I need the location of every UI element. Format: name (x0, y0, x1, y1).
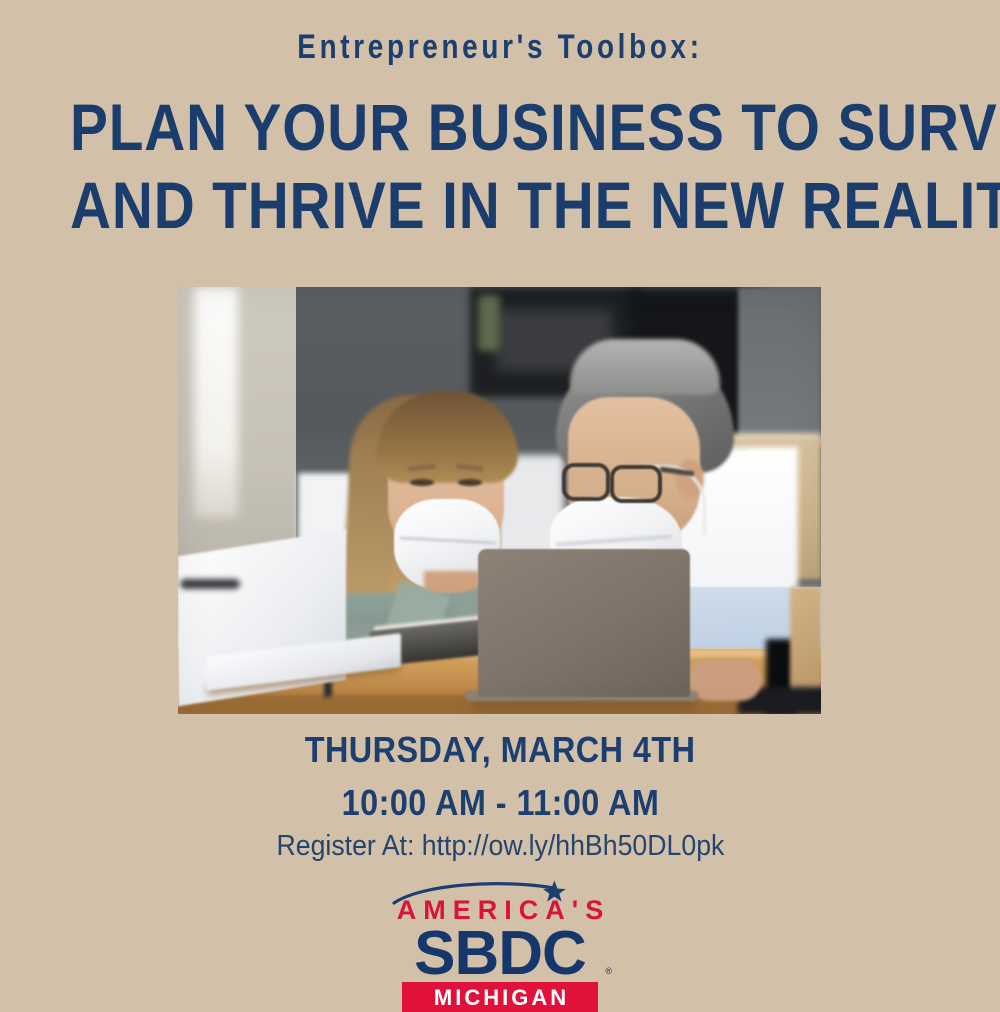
event-photo (178, 287, 821, 714)
event-date: THURSDAY, MARCH 4TH (0, 729, 1000, 771)
logo-sbdc-text: SBDC (370, 923, 630, 985)
logo-state-text: MICHIGAN (402, 985, 598, 1011)
logo-registered-mark: ® (605, 966, 612, 976)
event-subtitle: Entrepreneur's Toolbox: (90, 28, 910, 67)
page-title: PLAN YOUR BUSINESS TO SURVIVE AND THRIVE… (0, 88, 1000, 244)
headline-line-2: AND THRIVE IN THE NEW REALITY (70, 166, 930, 244)
event-date-text: THURSDAY, MARCH 4TH (305, 729, 696, 771)
registration-link[interactable]: Register At: http://ow.ly/hhBh50DL0pk (0, 830, 1000, 863)
sbdc-michigan-logo: AMERICA'S SBDC ® MICHIGAN (370, 878, 630, 998)
poster-canvas: Entrepreneur's Toolbox: PLAN YOUR BUSINE… (0, 0, 1000, 1000)
headline-line-1: PLAN YOUR BUSINESS TO SURVIVE (70, 88, 930, 166)
event-time: 10:00 AM - 11:00 AM (0, 782, 1000, 824)
registration-link-text[interactable]: Register At: http://ow.ly/hhBh50DL0pk (276, 830, 724, 863)
photo-vignette (178, 287, 821, 714)
event-time-text: 10:00 AM - 11:00 AM (341, 782, 659, 824)
